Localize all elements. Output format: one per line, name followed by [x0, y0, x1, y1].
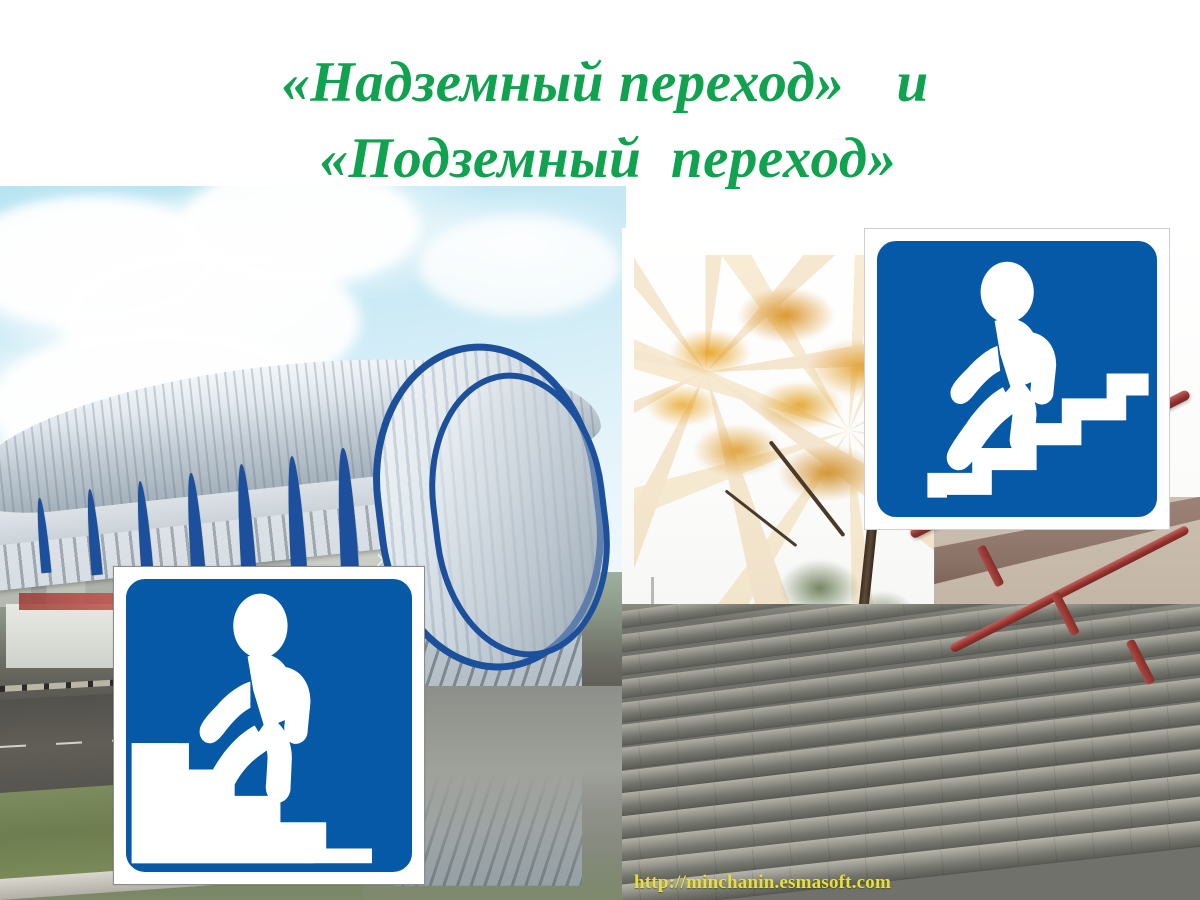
title-line-1: «Надземный переход»и	[0, 52, 1200, 114]
person-descending-stairs-icon	[126, 579, 412, 872]
person-ascending-stairs-icon	[877, 241, 1157, 517]
source-watermark: http://minchanin.esmasoft.com	[634, 872, 891, 894]
overground-crossing-sign[interactable]	[864, 228, 1170, 530]
underground-crossing-sign[interactable]	[113, 566, 425, 885]
title-conjunction: и	[896, 52, 928, 114]
cloud-shape	[420, 216, 620, 316]
title-text-nadzemny: «Надземный переход»	[281, 51, 844, 114]
sign-plate	[123, 576, 415, 875]
passage-staircase	[622, 604, 1200, 900]
slide-canvas: «Надземный переход»и «Подземный переход»…	[0, 0, 1200, 900]
title-line-2: «Подземный переход»	[0, 128, 1200, 190]
sign-plate	[874, 238, 1160, 520]
slide-title: «Надземный переход»и «Подземный переход»	[0, 52, 1200, 189]
